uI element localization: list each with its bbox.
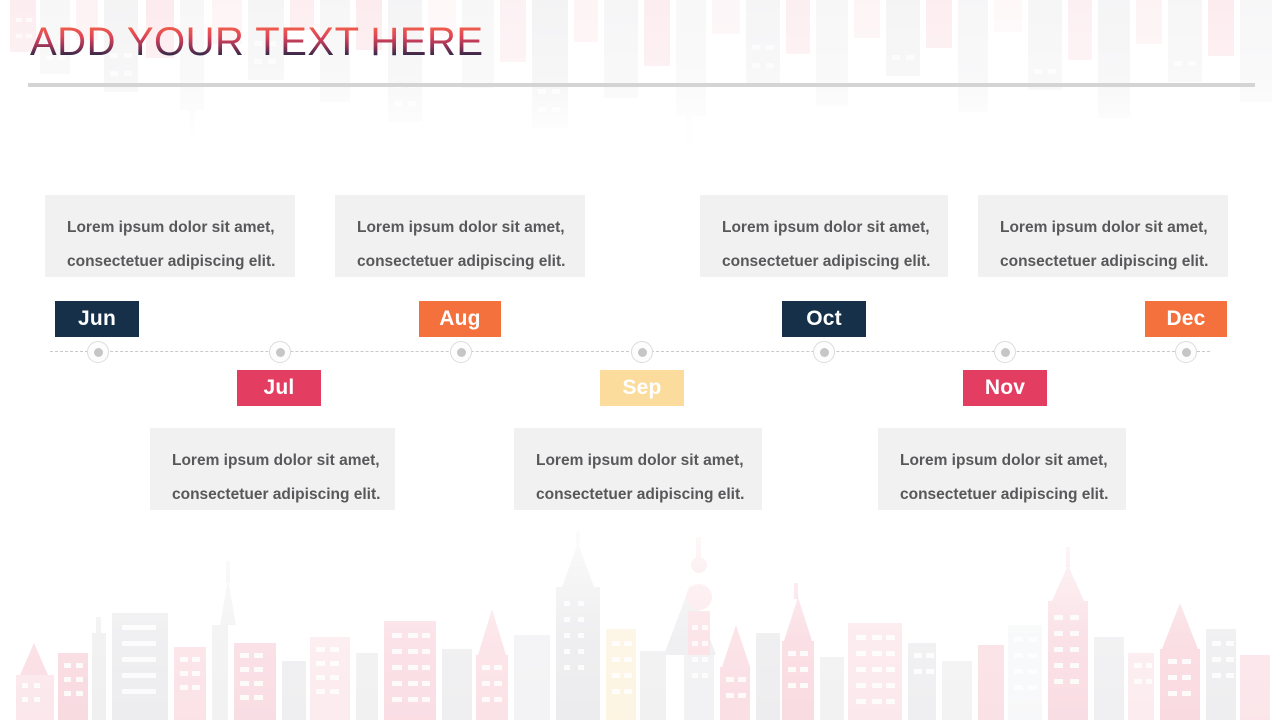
timeline-dot-core	[1182, 348, 1191, 357]
milestone-card-oct: Lorem ipsum dolor sit amet,consectetuer …	[700, 195, 948, 277]
month-chip-oct[interactable]: Oct	[782, 301, 866, 337]
timeline-dot-sep[interactable]	[631, 341, 653, 363]
month-chip-jun[interactable]: Jun	[55, 301, 139, 337]
page-title: ADD YOUR TEXT HERE	[30, 18, 484, 66]
milestone-text-line1: Lorem ipsum dolor sit amet,	[45, 211, 295, 245]
milestone-text-line1: Lorem ipsum dolor sit amet,	[878, 444, 1126, 478]
timeline-dot-core	[638, 348, 647, 357]
month-chip-dec[interactable]: Dec	[1145, 301, 1227, 337]
slide-canvas: ADD YOUR TEXT HERE JunLorem ipsum dolor …	[0, 0, 1280, 720]
timeline-dot-core	[94, 348, 103, 357]
city-skyline-bottom-decoration	[0, 525, 1280, 720]
milestone-card-sep: Lorem ipsum dolor sit amet,consectetuer …	[514, 428, 762, 510]
month-chip-sep[interactable]: Sep	[600, 370, 684, 406]
timeline-dot-aug[interactable]	[450, 341, 472, 363]
timeline-dot-oct[interactable]	[813, 341, 835, 363]
milestone-text-line2: consectetuer adipiscing elit.	[45, 245, 295, 279]
milestone-text-line2: consectetuer adipiscing elit.	[700, 245, 948, 279]
timeline-axis	[50, 351, 1210, 354]
milestone-card-aug: Lorem ipsum dolor sit amet,consectetuer …	[335, 195, 585, 277]
month-chip-nov[interactable]: Nov	[963, 370, 1047, 406]
title-divider	[28, 83, 1255, 87]
timeline-dot-nov[interactable]	[994, 341, 1016, 363]
timeline-dot-jul[interactable]	[269, 341, 291, 363]
milestone-text-line1: Lorem ipsum dolor sit amet,	[978, 211, 1228, 245]
milestone-text-line1: Lorem ipsum dolor sit amet,	[335, 211, 585, 245]
milestone-text-line2: consectetuer adipiscing elit.	[514, 478, 762, 512]
milestone-card-nov: Lorem ipsum dolor sit amet,consectetuer …	[878, 428, 1126, 510]
bottom-fade-overlay	[0, 520, 1280, 720]
milestone-card-dec: Lorem ipsum dolor sit amet,consectetuer …	[978, 195, 1228, 277]
timeline-dot-core	[276, 348, 285, 357]
milestone-card-jun: Lorem ipsum dolor sit amet,consectetuer …	[45, 195, 295, 277]
milestone-text-line1: Lorem ipsum dolor sit amet,	[514, 444, 762, 478]
timeline-dot-core	[1001, 348, 1010, 357]
timeline-dot-dec[interactable]	[1175, 341, 1197, 363]
timeline-dot-core	[457, 348, 466, 357]
milestone-card-jul: Lorem ipsum dolor sit amet,consectetuer …	[150, 428, 395, 510]
milestone-text-line2: consectetuer adipiscing elit.	[335, 245, 585, 279]
month-chip-aug[interactable]: Aug	[419, 301, 501, 337]
month-chip-jul[interactable]: Jul	[237, 370, 321, 406]
milestone-text-line1: Lorem ipsum dolor sit amet,	[150, 444, 395, 478]
timeline-dot-core	[820, 348, 829, 357]
timeline-dot-jun[interactable]	[87, 341, 109, 363]
milestone-text-line2: consectetuer adipiscing elit.	[150, 478, 395, 512]
milestone-text-line1: Lorem ipsum dolor sit amet,	[700, 211, 948, 245]
milestone-text-line2: consectetuer adipiscing elit.	[878, 478, 1126, 512]
milestone-text-line2: consectetuer adipiscing elit.	[978, 245, 1228, 279]
